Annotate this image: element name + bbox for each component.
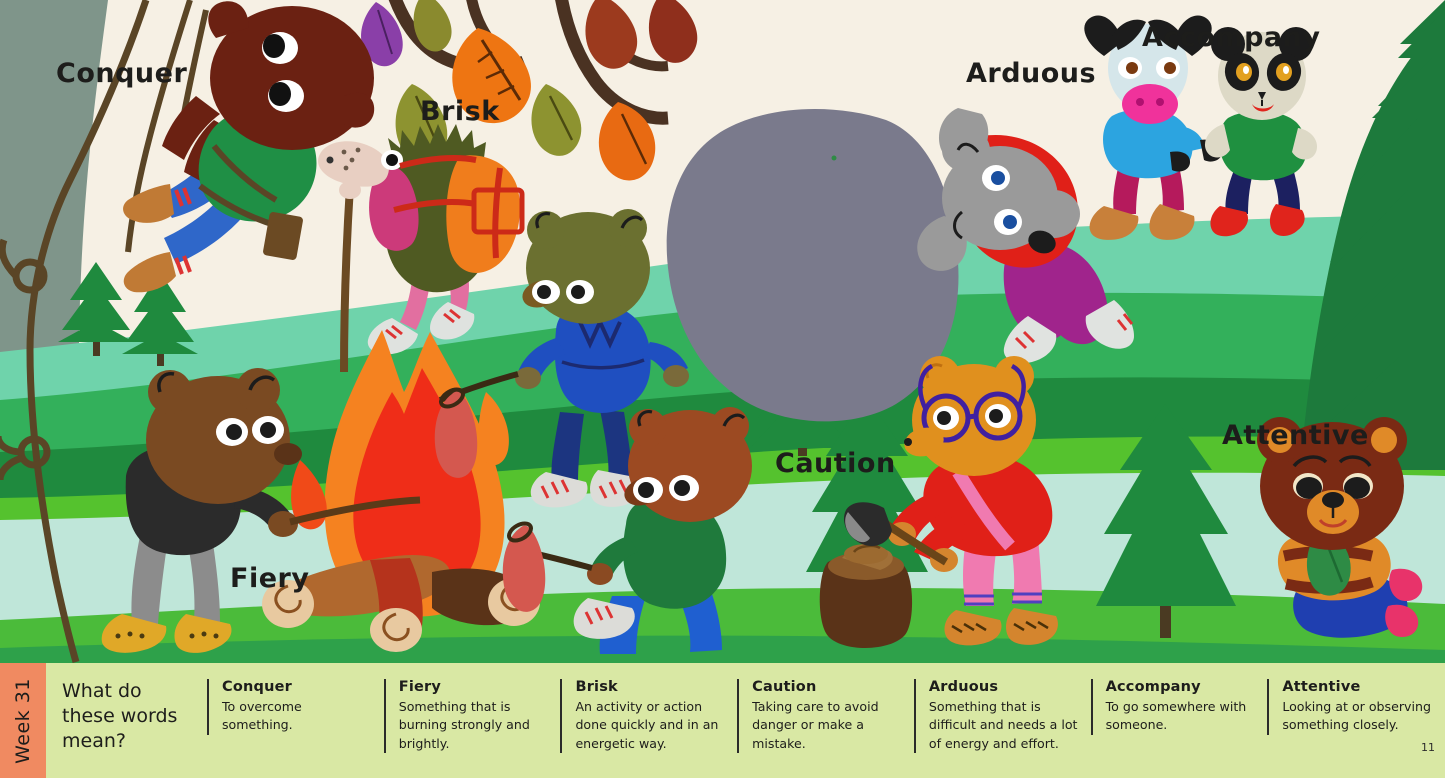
definition-attentive: Attentive Looking at or observing someth… [1267,679,1433,735]
definition-fiery: Fiery Something that is burning strongly… [384,679,550,753]
caption-bar: Week 31 What do these words mean? Conque… [0,663,1445,778]
definition-term: Brisk [575,679,726,695]
definition-term: Accompany [1106,679,1257,695]
storybook-page: Conquer Brisk Arduous Accompany Fiery Ca… [0,0,1445,778]
definition-desc: Something that is difficult and needs a … [929,698,1080,753]
definition-arduous: Arduous Something that is difficult and … [914,679,1080,753]
definition-term: Fiery [399,679,550,695]
definition-term: Conquer [222,679,373,695]
page-number: 11 [1421,741,1435,754]
definition-desc: Something that is burning strongly and b… [399,698,550,753]
definition-desc: To overcome something. [222,698,373,735]
definition-brisk: Brisk An activity or action done quickly… [560,679,726,753]
week-tab-label: Week 31 [12,678,34,764]
caption-inner: What do these words mean? Conquer To ove… [46,663,1445,778]
definition-term: Attentive [1282,679,1433,695]
definition-term: Arduous [929,679,1080,695]
definition-term: Caution [752,679,903,695]
definition-desc: An activity or action done quickly and i… [575,698,726,753]
definition-desc: Looking at or observing something closel… [1282,698,1433,735]
definition-desc: Taking care to avoid danger or make a mi… [752,698,903,753]
week-tab: Week 31 [0,663,46,778]
definition-caution: Caution Taking care to avoid danger or m… [737,679,903,753]
wood-stump [820,544,912,648]
prompt-question: What do these words mean? [46,679,196,754]
definition-accompany: Accompany To go somewhere with someone. [1091,679,1257,735]
definition-conquer: Conquer To overcome something. [207,679,373,735]
illustration-panel: Conquer Brisk Arduous Accompany Fiery Ca… [0,0,1445,663]
definition-desc: To go somewhere with someone. [1106,698,1257,735]
